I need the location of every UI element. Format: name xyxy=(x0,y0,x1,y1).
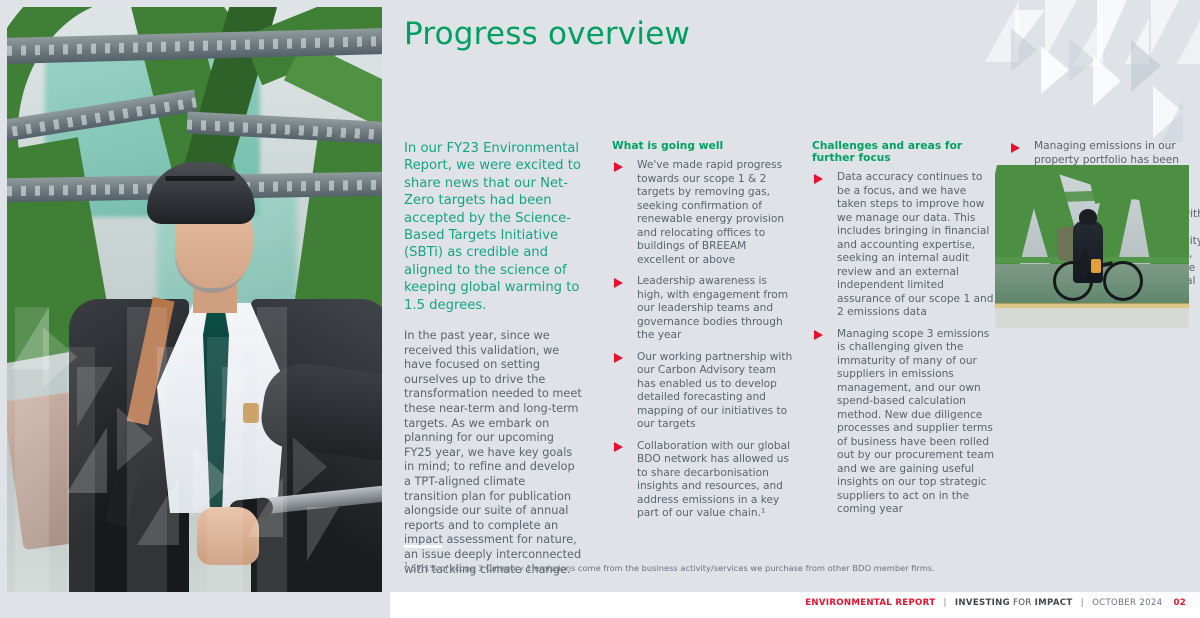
footer-text: ENVIRONMENTAL REPORT | INVESTING FOR IMP… xyxy=(805,598,1186,608)
column-challenges: Challenges and areas for further focus D… xyxy=(812,140,998,525)
bullet-list-going-well: We've made rapid progress towards our sc… xyxy=(612,159,794,521)
list-item: Collaboration with our global BDO networ… xyxy=(612,440,794,521)
triangle-bullet-icon xyxy=(614,278,623,288)
column-heading-challenges: Challenges and areas for further focus xyxy=(812,140,998,164)
column-what-is-going-well: What is going well We've made rapid prog… xyxy=(612,140,794,529)
bullet-text: Collaboration with our global BDO networ… xyxy=(637,440,790,520)
list-item: Leadership awareness is high, with engag… xyxy=(612,275,794,343)
bullet-list-challenges: Data accuracy continues to be a focus, a… xyxy=(812,171,998,517)
list-item: We've made rapid progress towards our sc… xyxy=(612,159,794,267)
triangle-bullet-icon xyxy=(1011,143,1020,153)
list-item: Managing scope 3 emissions is challengin… xyxy=(812,328,998,517)
footer-separator-2: | xyxy=(1081,598,1084,608)
footer-left-fill xyxy=(0,592,390,618)
footer-report-label: ENVIRONMENTAL REPORT xyxy=(805,598,935,608)
bicycle-wheel-front xyxy=(1103,261,1143,301)
footnote: 157.1% of scope 3 Category 1 emissions c… xyxy=(404,560,1180,574)
secondary-photo-cyclist xyxy=(995,165,1189,328)
content-area: Progress overview In our FY23 Environmen… xyxy=(390,0,1200,618)
page-title: Progress overview xyxy=(404,16,690,52)
list-item: Our working partnership with our Carbon … xyxy=(612,351,794,432)
bullet-text: Data accuracy continues to be a focus, a… xyxy=(837,171,994,318)
triangle-bullet-icon xyxy=(814,174,823,184)
intro-column: In our FY23 Environmental Report, we wer… xyxy=(404,140,582,577)
footnote-divider xyxy=(404,545,442,548)
footnote-marker: 1 xyxy=(404,561,408,569)
page-footer: ENVIRONMENTAL REPORT | INVESTING FOR IMP… xyxy=(0,592,1200,618)
bullet-text: Our working partnership with our Carbon … xyxy=(637,351,792,431)
footer-page-number: 02 xyxy=(1173,598,1186,608)
column-heading-going-well: What is going well xyxy=(612,140,794,152)
report-page: Progress overview In our FY23 Environmen… xyxy=(0,0,1200,618)
intro-lead-paragraph: In our FY23 Environmental Report, we wer… xyxy=(404,140,582,314)
triangle-bullet-icon xyxy=(614,353,623,363)
triangle-bullet-icon xyxy=(814,330,823,340)
bullet-text: We've made rapid progress towards our sc… xyxy=(637,159,784,266)
bullet-text: Managing scope 3 emissions is challengin… xyxy=(837,328,994,516)
intro-body-paragraph: In the past year, since we received this… xyxy=(404,329,582,577)
list-item: Data accuracy continues to be a focus, a… xyxy=(812,171,998,320)
triangle-bullet-icon xyxy=(614,162,623,172)
footer-campaign-bold: INVESTING xyxy=(955,598,1010,608)
triangle-bullet-icon xyxy=(614,442,623,452)
footer-date: OCTOBER 2024 xyxy=(1092,598,1162,608)
bullet-text: Leadership awareness is high, with engag… xyxy=(637,275,788,341)
footer-campaign-light: FOR xyxy=(1010,598,1035,608)
footnote-text: 57.1% of scope 3 Category 1 emissions co… xyxy=(411,563,935,573)
hero-photo-cyclist xyxy=(7,7,382,604)
footer-separator-1: | xyxy=(943,598,946,608)
footer-campaign-bold2: IMPACT xyxy=(1035,598,1073,608)
